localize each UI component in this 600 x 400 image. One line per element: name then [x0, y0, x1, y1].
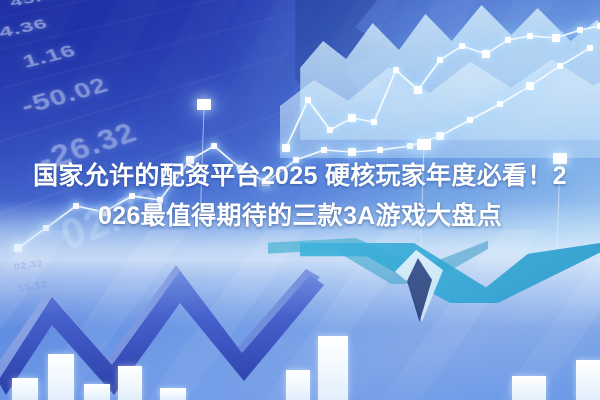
bar-column	[576, 360, 600, 400]
ticker-value: 4.36	[0, 15, 51, 41]
banner-image: -09.36-08.3521.02-11.25-45.0245.022.26-0…	[0, 0, 600, 400]
bar-column	[512, 376, 546, 400]
bar-column	[118, 366, 142, 400]
bar-column	[12, 378, 38, 400]
bar-column	[160, 388, 186, 400]
bar-column	[286, 370, 310, 400]
headline-line-1: 国家允许的配资平台2025 硬核玩家年度必看！2	[33, 162, 567, 190]
bar-chart-icon	[0, 240, 600, 400]
bar-column	[318, 336, 348, 400]
bar-column	[84, 384, 110, 400]
headline-line-2: 026最值得期待的三款3A游戏大盘点	[14, 196, 586, 236]
ticker-value: 1.16	[20, 41, 80, 72]
page-title: 国家允许的配资平台2025 硬核玩家年度必看！2 026最值得期待的三款3A游戏…	[0, 156, 600, 236]
bar-column	[48, 354, 74, 400]
